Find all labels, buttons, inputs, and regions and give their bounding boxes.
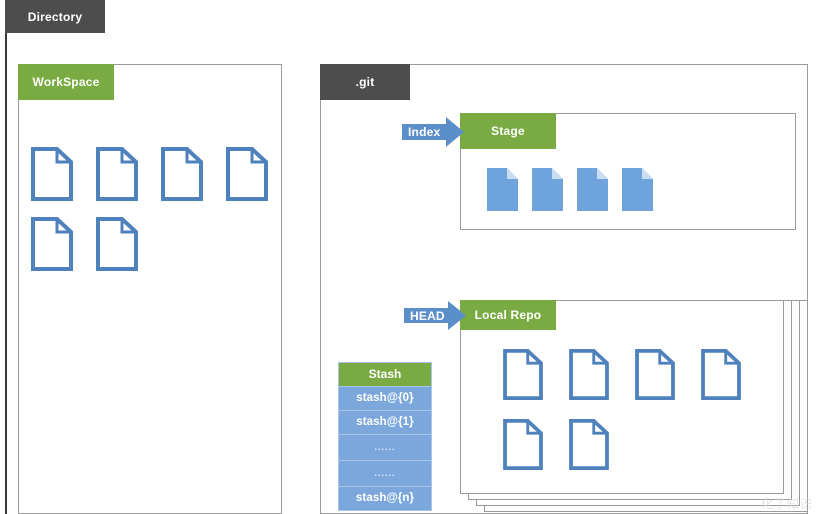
local-repo-header-tag: Local Repo	[460, 300, 556, 330]
head-arrow: HEAD	[404, 301, 466, 330]
file-outline-icon	[502, 418, 544, 471]
local-repo-files-row-1	[502, 348, 742, 401]
stage-header-tag: Stage	[460, 113, 556, 149]
diagram-canvas: Directory WorkSpace	[0, 0, 819, 514]
stash-row-n[interactable]: stash@{n}	[339, 487, 431, 510]
stash-header: Stash	[339, 363, 431, 387]
git-header-tag: .git	[320, 64, 410, 100]
file-outline-icon	[700, 348, 742, 401]
stash-row-ellipsis-1: ......	[339, 435, 431, 461]
stash-row-0[interactable]: stash@{0}	[339, 387, 431, 411]
stash-row-ellipsis-2: ......	[339, 461, 431, 487]
file-outline-icon	[568, 418, 610, 471]
stash-table: Stash stash@{0} stash@{1} ...... ...... …	[338, 362, 432, 511]
file-outline-icon	[568, 348, 610, 401]
watermark-text: 化了知识	[761, 495, 813, 512]
workspace-header-tag: WorkSpace	[18, 64, 114, 100]
directory-header-tag: Directory	[5, 0, 105, 33]
local-repo-files-row-2	[502, 418, 610, 471]
file-outline-icon	[502, 348, 544, 401]
file-outline-icon	[634, 348, 676, 401]
index-arrow: Index	[402, 117, 464, 147]
stash-row-1[interactable]: stash@{1}	[339, 411, 431, 435]
